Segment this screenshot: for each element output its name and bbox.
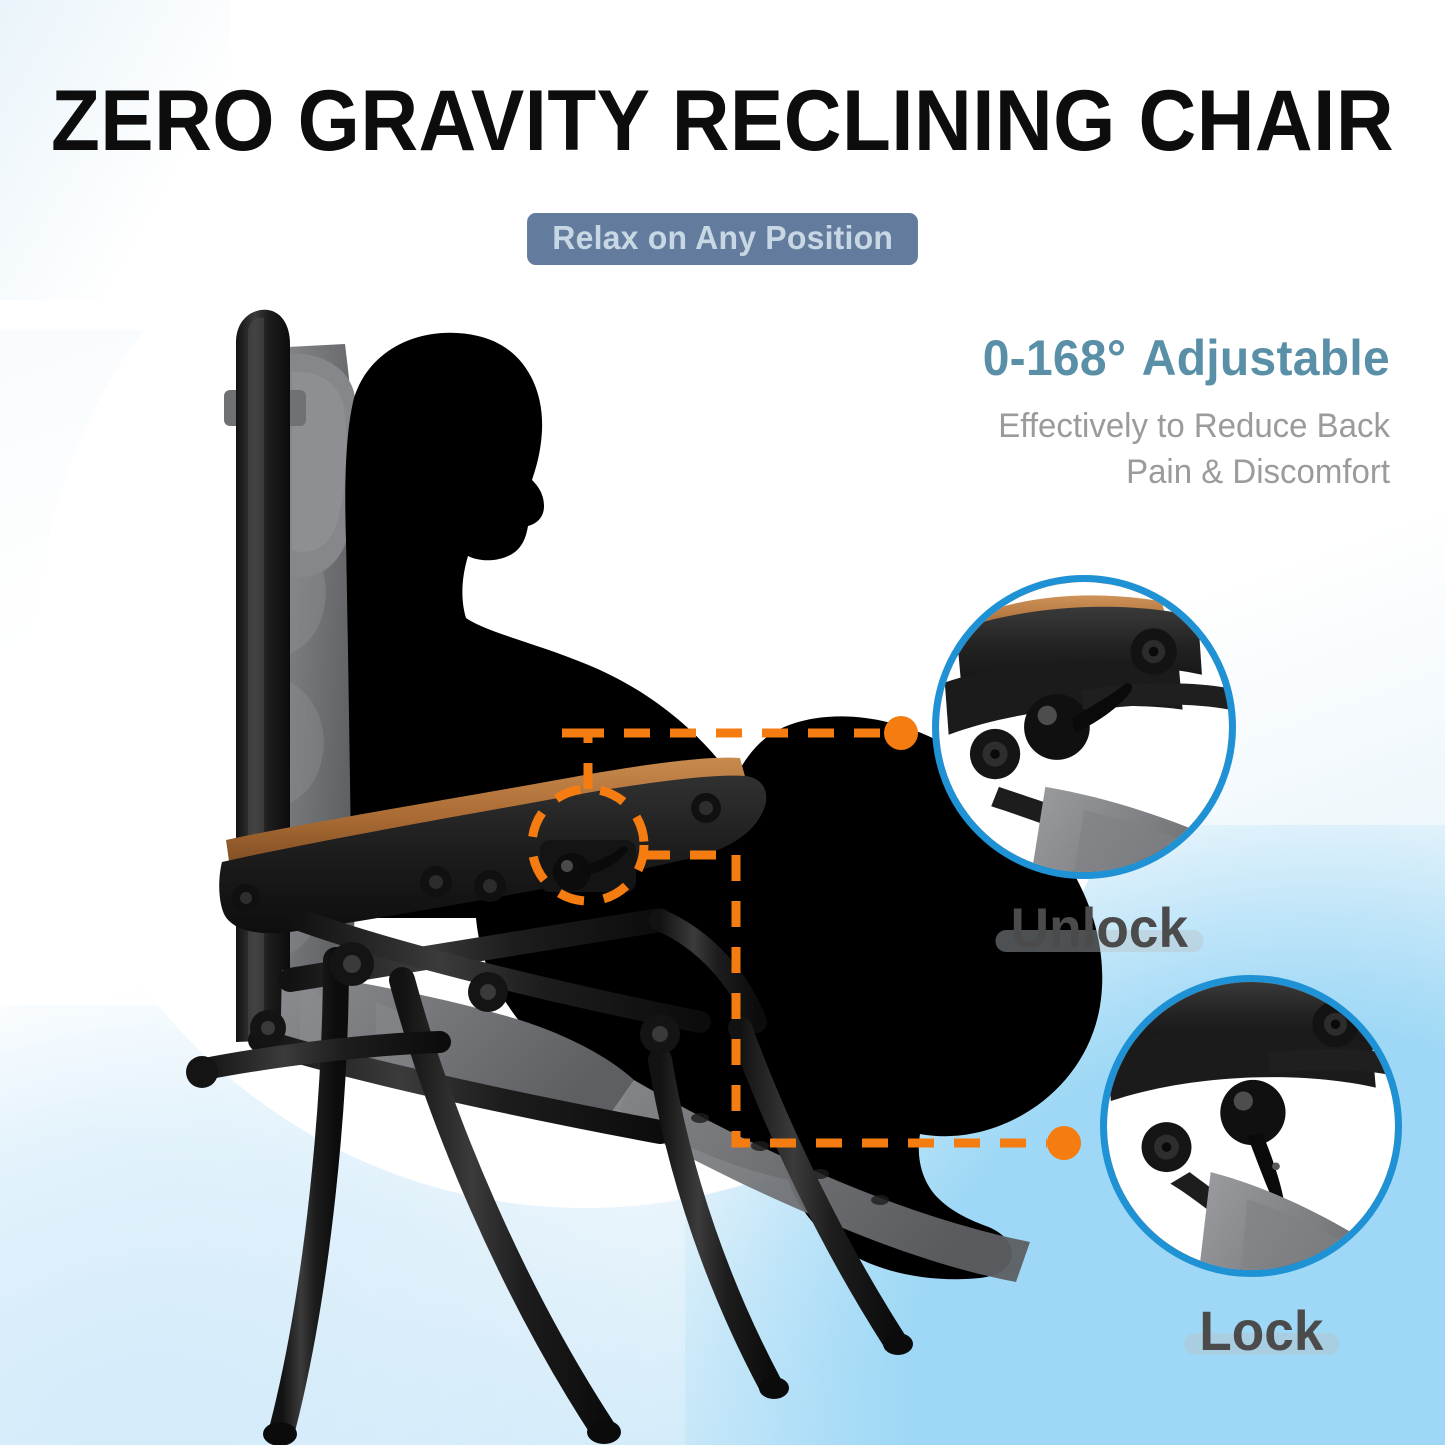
page-title: ZERO GRAVITY RECLINING CHAIR bbox=[51, 78, 1395, 164]
unlock-detail-image bbox=[939, 582, 1229, 872]
lock-detail-image bbox=[1107, 982, 1395, 1270]
callout-label-lock-text: Lock bbox=[1199, 1299, 1323, 1362]
callout-label-unlock-text: Unlock bbox=[1011, 896, 1188, 959]
subtitle-badge: Relax on Any Position bbox=[527, 213, 918, 265]
infographic-canvas: ZERO GRAVITY RECLINING CHAIR Relax on An… bbox=[0, 0, 1445, 1445]
callout-circle-unlock bbox=[932, 575, 1236, 879]
annotation-dot-lock bbox=[1047, 1126, 1081, 1160]
callout-label-unlock: Unlock bbox=[1011, 900, 1188, 956]
subtitle-container: Relax on Any Position bbox=[0, 213, 1445, 265]
callout-label-lock: Lock bbox=[1199, 1303, 1323, 1359]
callout-circle-lock bbox=[1100, 975, 1402, 1277]
annotation-dot-unlock bbox=[884, 716, 918, 750]
